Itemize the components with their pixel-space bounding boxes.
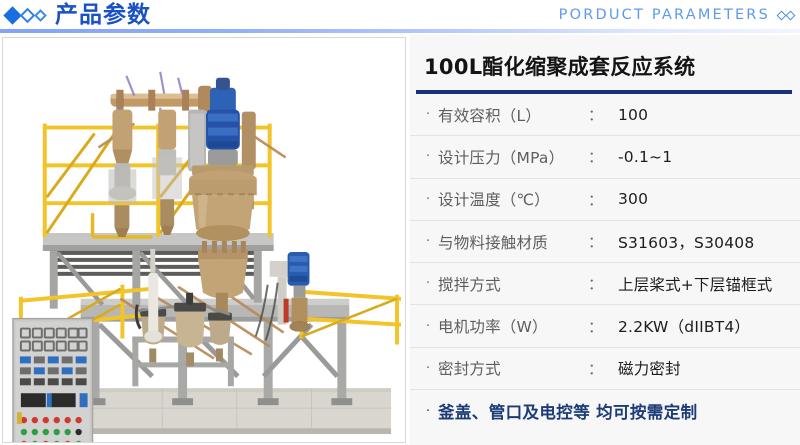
spec-value: 上层桨式+下层锚框式 xyxy=(618,273,773,295)
header-left-group: 产品参数 xyxy=(4,0,151,30)
spec-colon: ： xyxy=(588,104,603,125)
spec-row-customization-note: · 釜盖、管口及电控等 ： 均可按需定制 xyxy=(410,390,800,432)
spec-value: -0.1~1 xyxy=(618,148,672,166)
product-name-heading: 100L酯化缩聚成套反应系统 xyxy=(424,51,800,81)
spec-value: 2.2KW（dIIBT4） xyxy=(618,315,750,337)
bullet-icon: · xyxy=(426,405,438,418)
bullet-icon: · xyxy=(426,320,438,333)
spec-row-motor-power: · 电机功率（W） ： 2.2KW（dIIBT4） xyxy=(410,305,800,347)
bullet-icon: · xyxy=(426,150,438,163)
page-header: 产品参数 PORDUCT PARAMETERS xyxy=(0,0,800,32)
spec-colon: ： xyxy=(588,146,603,167)
bullet-icon: · xyxy=(426,277,438,290)
spec-row-design-pressure: · 设计压力（MPa） ： -0.1~1 xyxy=(410,136,800,178)
bullet-icon: · xyxy=(426,108,438,121)
spec-row-sealing-type: · 密封方式 ： 磁力密封 xyxy=(410,348,800,390)
spec-list: · 有效容积（L） ： 100 · 设计压力（MPa） ： -0.1~1 · 设… xyxy=(410,94,800,432)
spec-label: 有效容积（L） xyxy=(438,104,541,126)
industrial-reactor-photo xyxy=(3,38,405,442)
spec-label: 设计压力（MPa） xyxy=(438,146,564,168)
spec-value: 均可按需定制 xyxy=(596,399,697,423)
product-photo xyxy=(2,37,406,443)
spec-colon: ： xyxy=(588,231,603,252)
spec-colon: ： xyxy=(588,189,603,210)
diamond-decoration-group-right xyxy=(778,12,794,19)
bullet-icon: · xyxy=(426,235,438,248)
spec-panel: 100L酯化缩聚成套反应系统 · 有效容积（L） ： 100 · 设计压力（MP… xyxy=(410,35,800,445)
spec-colon: ： xyxy=(588,358,603,379)
diamond-decoration-group xyxy=(4,9,45,22)
spec-value: 100 xyxy=(618,106,648,124)
spec-value: 磁力密封 xyxy=(618,357,681,379)
spec-label: 釜盖、管口及电控等 xyxy=(438,399,590,423)
page-subtitle: PORDUCT PARAMETERS xyxy=(559,0,770,30)
spec-label: 密封方式 xyxy=(438,357,501,379)
spec-label: 搅拌方式 xyxy=(438,273,501,295)
diamond-outline-small-icon xyxy=(34,9,47,22)
spec-label: 电机功率（W） xyxy=(438,315,548,337)
header-right-group: PORDUCT PARAMETERS xyxy=(559,0,794,30)
diamond-outline-icon xyxy=(786,10,796,20)
spec-label: 与物料接触材质 xyxy=(438,231,548,253)
page-title: 产品参数 xyxy=(55,0,151,30)
spec-row-agitation-type: · 搅拌方式 ： 上层桨式+下层锚框式 xyxy=(410,263,800,305)
product-parameters-page: 产品参数 PORDUCT PARAMETERS xyxy=(0,0,800,445)
header-divider xyxy=(0,29,800,33)
spec-value: 300 xyxy=(618,190,648,208)
spec-label: 设计温度（℃） xyxy=(438,188,550,210)
spec-colon: ： xyxy=(588,273,603,294)
spec-row-contact-material: · 与物料接触材质 ： S31603，S30408 xyxy=(410,221,800,263)
bullet-icon: · xyxy=(426,362,438,375)
spec-row-design-temperature: · 设计温度（℃） ： 300 xyxy=(410,179,800,221)
spec-row-effective-volume: · 有效容积（L） ： 100 xyxy=(410,94,800,136)
bullet-icon: · xyxy=(426,193,438,206)
page-body: 100L酯化缩聚成套反应系统 · 有效容积（L） ： 100 · 设计压力（MP… xyxy=(0,35,800,445)
spec-value: S31603，S30408 xyxy=(618,231,754,253)
spec-colon: ： xyxy=(588,316,603,337)
